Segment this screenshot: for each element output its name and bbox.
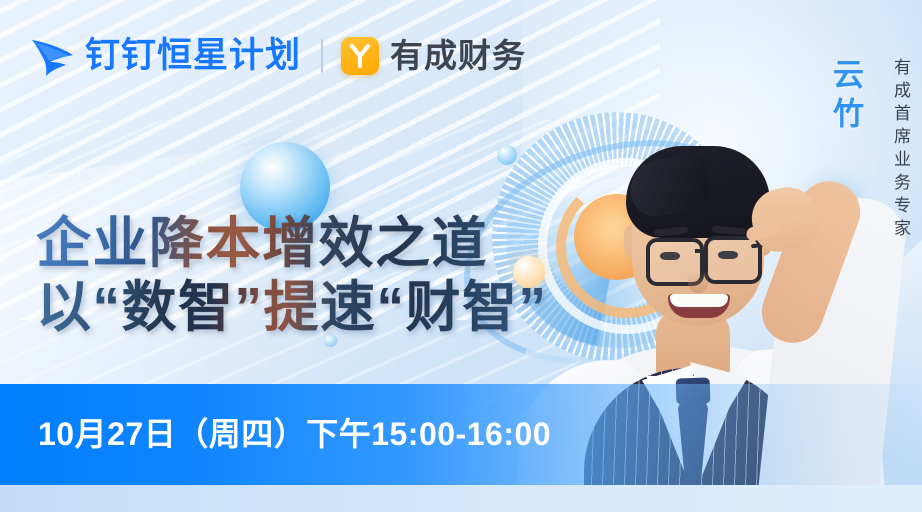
- schedule-text: 10月27日（周四）下午15:00-16:00: [38, 404, 551, 464]
- speaker-title: 有成首席业务专家: [888, 58, 912, 242]
- dingtalk-swoosh-icon: [30, 35, 76, 77]
- portrait-smile: [668, 294, 730, 318]
- headline-line-1: 企业降本增效之道: [36, 212, 548, 274]
- headline-line-2: 以“数智”提速“财智”: [36, 276, 548, 338]
- partner-name: 有成财务: [390, 36, 526, 76]
- portrait-teeth: [670, 294, 728, 307]
- logo-row: 钉钉恒星计划 有成财务: [30, 30, 526, 82]
- youcheng-y-icon: [341, 37, 379, 75]
- portrait-eyeglass-bridge: [695, 249, 707, 253]
- logo-divider: [321, 39, 323, 73]
- headline-block: 企业降本增效之道 以“数智”提速“财智”: [36, 212, 548, 338]
- webinar-promo-banner: 钉钉恒星计划 有成财务 企业降本增效之道 以“数智”提速“财智” 10月27日（…: [0, 0, 922, 512]
- portrait-nose: [688, 271, 708, 293]
- footer-strip: [0, 485, 922, 512]
- speaker-name: 云竹: [826, 58, 864, 136]
- dingtalk-program-name: 钉钉恒星计划: [85, 35, 301, 77]
